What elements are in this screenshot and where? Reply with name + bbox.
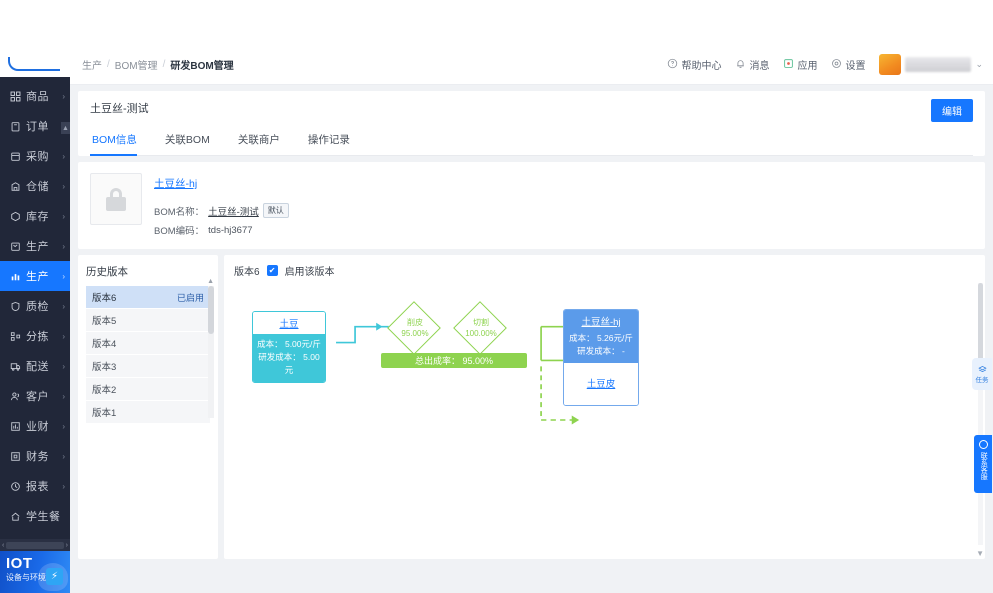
process-node-cutting[interactable]: 切割 100.00% bbox=[450, 309, 512, 347]
task-icon bbox=[978, 365, 987, 377]
sidebar-item-label: 业财 bbox=[26, 418, 49, 434]
sidebar-item-quality[interactable]: 质检 › bbox=[0, 291, 70, 321]
main-content: 土豆丝-测试 编辑 BOM信息 关联BOM 关联商户 操作记录 土豆丝-hj B… bbox=[70, 85, 993, 593]
bom-name-label: BOM名称： bbox=[154, 204, 204, 218]
input-node-body: 成本： 5.00元/斤 研发成本： 5.00元 bbox=[253, 334, 325, 382]
clipboard-icon bbox=[9, 120, 21, 132]
sidebar-item-label: 分拣 bbox=[26, 328, 49, 344]
tab-operation-log[interactable]: 操作记录 bbox=[294, 125, 364, 155]
sidebar-item-label: 生产 bbox=[26, 268, 49, 284]
settings-label: 设置 bbox=[845, 57, 865, 72]
warehouse-icon bbox=[9, 180, 21, 192]
settings-button[interactable]: 设置 bbox=[831, 57, 865, 72]
lower-split: 历史版本 版本6 已启用 版本5 版本4 版本3 bbox=[78, 255, 985, 559]
messages-button[interactable]: 消息 bbox=[735, 57, 769, 72]
sidebar-item-finance[interactable]: 财务 › bbox=[0, 441, 70, 471]
chevron-right-icon: › bbox=[62, 362, 65, 371]
home-icon bbox=[9, 510, 21, 522]
username-masked bbox=[905, 57, 971, 72]
enable-version-label: 启用该版本 bbox=[285, 263, 335, 278]
logo-swoosh-icon bbox=[8, 57, 60, 71]
version-status: 已启用 bbox=[177, 291, 204, 304]
flow-header: 版本6 ✔ 启用该版本 bbox=[234, 263, 975, 278]
messages-label: 消息 bbox=[749, 57, 769, 72]
sidebar-item-label: 采购 bbox=[26, 148, 49, 164]
flow-version-label: 版本6 bbox=[234, 263, 260, 278]
sidebar-item-delivery[interactable]: 配送 › bbox=[0, 351, 70, 381]
process-rate: 100.00% bbox=[450, 328, 512, 339]
sidebar-item-orders[interactable]: 订单 › bbox=[0, 111, 70, 141]
chevron-right-icon: › bbox=[62, 482, 65, 491]
side-tab-task-label: 任务 bbox=[976, 377, 989, 384]
scrollbar-track[interactable] bbox=[6, 542, 63, 549]
sidebar-scroll-up[interactable]: ▲ bbox=[61, 122, 70, 134]
chevron-right-icon: › bbox=[62, 242, 65, 251]
chevron-right-icon: › bbox=[62, 302, 65, 311]
sidebar-item-student-meal[interactable]: 学生餐 › bbox=[0, 501, 70, 531]
help-center-button[interactable]: 帮助中心 bbox=[667, 57, 721, 72]
apps-label: 应用 bbox=[797, 57, 817, 72]
bell-icon bbox=[735, 58, 746, 72]
cart-icon bbox=[9, 150, 21, 162]
bom-code-value: tds-hj3677 bbox=[208, 225, 252, 236]
scrollbar-thumb[interactable] bbox=[208, 286, 214, 334]
sidebar-item-inventory[interactable]: 库存 › bbox=[0, 201, 70, 231]
tab-bar: BOM信息 关联BOM 关联商户 操作记录 bbox=[90, 125, 973, 156]
product-thumbnail bbox=[90, 173, 142, 225]
history-version-panel: 历史版本 版本6 已启用 版本5 版本4 版本3 bbox=[78, 255, 218, 559]
header-actions: 帮助中心 消息 应用 设置 ⌄ bbox=[667, 54, 983, 75]
process-node-text: 切割 100.00% bbox=[450, 317, 512, 339]
iot-device-icon: ⚡ bbox=[46, 568, 63, 585]
list-item[interactable]: 版本2 bbox=[86, 378, 210, 400]
history-list: 版本6 已启用 版本5 版本4 版本3 版本2 bbox=[86, 286, 210, 423]
sidebar-item-goods[interactable]: 商品 › bbox=[0, 81, 70, 111]
list-item[interactable]: 版本3 bbox=[86, 355, 210, 377]
product-info-card: 土豆丝-hj BOM名称： 土豆丝-测试 默认 BOM编码： tds-hj367… bbox=[78, 162, 985, 249]
history-scrollbar[interactable]: ▲ bbox=[208, 286, 214, 418]
sidebar-item-label: 质检 bbox=[26, 298, 49, 314]
sidebar-horizontal-scrollbar[interactable]: ‹ › bbox=[0, 539, 70, 551]
input-node-name[interactable]: 土豆 bbox=[253, 312, 325, 334]
finance-icon bbox=[9, 450, 21, 462]
users-icon bbox=[9, 390, 21, 402]
browser-top-strip bbox=[0, 0, 993, 45]
factory-icon bbox=[9, 240, 21, 252]
process-name: 削皮 bbox=[384, 317, 446, 328]
tab-bom-info[interactable]: BOM信息 bbox=[90, 125, 151, 155]
input-node[interactable]: 土豆 成本： 5.00元/斤 研发成本： 5.00元 bbox=[252, 311, 326, 383]
sidebar-item-label: 配送 bbox=[26, 358, 49, 374]
version-label: 版本6 bbox=[92, 290, 116, 304]
output-node[interactable]: 土豆丝-hj 成本： 5.26元/斤 研发成本： - 土豆皮 bbox=[563, 309, 639, 406]
top-header: 生产 / BOM管理 / 研发BOM管理 帮助中心 消息 应用 设置 ⌄ bbox=[70, 45, 993, 85]
chevron-right-icon: › bbox=[62, 392, 65, 401]
tab-related-merchant[interactable]: 关联商户 bbox=[224, 125, 294, 155]
breadcrumb-item-0[interactable]: 生产 bbox=[82, 57, 102, 72]
version-label: 版本4 bbox=[92, 336, 116, 350]
process-node-text: 削皮 95.00% bbox=[384, 317, 446, 339]
total-yield-bar: 总出成率： 95.00% bbox=[381, 353, 527, 368]
truck-icon bbox=[9, 360, 21, 372]
chart-bar-icon bbox=[9, 270, 21, 282]
sort-icon bbox=[9, 330, 21, 342]
chevron-right-icon: › bbox=[62, 92, 65, 101]
sidebar-item-label: 订单 bbox=[26, 118, 49, 134]
version-label: 版本5 bbox=[92, 313, 116, 327]
enable-version-checkbox[interactable]: ✔ bbox=[267, 265, 278, 276]
apps-icon bbox=[783, 58, 794, 72]
report-icon bbox=[9, 420, 21, 432]
input-node-cost: 成本： 5.00元/斤 bbox=[256, 338, 322, 351]
bom-code-label: BOM编码： bbox=[154, 223, 204, 237]
breadcrumb-item-2: 研发BOM管理 bbox=[170, 57, 233, 72]
canvas-vertical-scrollbar[interactable] bbox=[978, 283, 983, 545]
flow-canvas[interactable]: 土豆 成本： 5.00元/斤 研发成本： 5.00元 削皮 95.00% bbox=[224, 281, 985, 559]
chat-icon bbox=[979, 440, 988, 449]
sidebar-item-label: 库存 bbox=[26, 208, 49, 224]
sidebar-item-label: 商品 bbox=[26, 88, 49, 104]
bom-flow-panel: 版本6 ✔ 启用该版本 土豆 成本： 5 bbox=[224, 255, 985, 559]
edit-button[interactable]: 编辑 bbox=[931, 99, 973, 122]
sidebar-item-reports[interactable]: 报表 › bbox=[0, 471, 70, 501]
breadcrumb-separator: / bbox=[163, 59, 166, 70]
sidebar-item-sorting[interactable]: 分拣 › bbox=[0, 321, 70, 351]
avatar bbox=[879, 54, 901, 75]
help-center-label: 帮助中心 bbox=[681, 57, 721, 72]
sidebar-item-business-finance[interactable]: 业财 › bbox=[0, 411, 70, 441]
gear-icon bbox=[831, 58, 842, 72]
lock-icon bbox=[106, 187, 126, 211]
chevron-right-icon: › bbox=[62, 182, 65, 191]
output-node-body: 成本： 5.26元/斤 研发成本： - bbox=[564, 332, 638, 363]
process-rate: 95.00% bbox=[384, 328, 446, 339]
scroll-up-icon[interactable]: ▲ bbox=[207, 278, 214, 285]
user-menu[interactable]: ⌄ bbox=[879, 54, 983, 75]
process-name: 切割 bbox=[450, 317, 512, 328]
scroll-right-icon[interactable]: › bbox=[66, 542, 68, 549]
side-tab-customer-service[interactable]: 联系客服 bbox=[974, 435, 992, 493]
chevron-right-icon: › bbox=[62, 212, 65, 221]
version-label: 版本1 bbox=[92, 405, 116, 419]
sidebar-item-label: 学生餐 bbox=[26, 508, 61, 524]
version-label: 版本3 bbox=[92, 359, 116, 373]
side-tab-service-label: 联系客服 bbox=[979, 452, 988, 480]
sidebar-item-customers[interactable]: 客户 › bbox=[0, 381, 70, 411]
page-header-card: 土豆丝-测试 编辑 BOM信息 关联BOM 关联商户 操作记录 bbox=[78, 91, 985, 156]
list-item[interactable]: 版本5 bbox=[86, 309, 210, 331]
sidebar-logo[interactable] bbox=[0, 45, 70, 77]
chevron-right-icon: › bbox=[62, 452, 65, 461]
status-badge: 默认 bbox=[263, 203, 289, 218]
sidebar-item-label: 财务 bbox=[26, 448, 49, 464]
chevron-right-icon: › bbox=[62, 272, 65, 281]
shield-icon bbox=[9, 300, 21, 312]
chevron-down-icon[interactable]: ⌄ bbox=[975, 59, 983, 70]
scroll-left-icon[interactable]: ‹ bbox=[2, 542, 4, 549]
version-label: 版本2 bbox=[92, 382, 116, 396]
sidebar-item-label: 仓储 bbox=[26, 178, 49, 194]
chevron-right-icon: › bbox=[62, 332, 65, 341]
box-icon bbox=[9, 210, 21, 222]
apps-button[interactable]: 应用 bbox=[783, 57, 817, 72]
scroll-down-icon[interactable]: ▼ bbox=[976, 549, 984, 558]
iot-banner[interactable]: IOT 设备与环境 ⚡ bbox=[0, 551, 70, 593]
process-node-peeling[interactable]: 削皮 95.00% bbox=[384, 309, 446, 347]
sidebar-item-production[interactable]: 生产 › bbox=[0, 231, 70, 261]
bom-code-row: BOM编码： tds-hj3677 bbox=[154, 223, 289, 237]
sidebar-item-label: 报表 bbox=[26, 478, 49, 494]
tab-related-bom[interactable]: 关联BOM bbox=[151, 125, 224, 155]
help-circle-icon bbox=[667, 58, 678, 72]
sidebar-item-production-active[interactable]: 生产 › bbox=[0, 261, 70, 291]
output-node-cost: 成本： 5.26元/斤 bbox=[567, 332, 635, 345]
grid-icon bbox=[9, 90, 21, 102]
sidebar-item-purchase[interactable]: 采购 › bbox=[0, 141, 70, 171]
sidebar-item-label: 客户 bbox=[26, 388, 49, 404]
output-node-name[interactable]: 土豆丝-hj bbox=[564, 310, 638, 332]
product-details: 土豆丝-hj BOM名称： 土豆丝-测试 默认 BOM编码： tds-hj367… bbox=[154, 173, 289, 237]
breadcrumb: 生产 / BOM管理 / 研发BOM管理 bbox=[82, 57, 234, 72]
output-node-rd-cost: 研发成本： - bbox=[567, 345, 635, 358]
history-title: 历史版本 bbox=[86, 264, 210, 279]
byproduct-node-name[interactable]: 土豆皮 bbox=[564, 363, 638, 405]
chevron-right-icon: › bbox=[62, 422, 65, 431]
product-name-link[interactable]: 土豆丝-hj bbox=[154, 176, 197, 191]
breadcrumb-separator: / bbox=[107, 59, 110, 70]
bom-name-value: 土豆丝-测试 bbox=[208, 204, 259, 218]
list-item[interactable]: 版本4 bbox=[86, 332, 210, 354]
sidebar-item-label: 生产 bbox=[26, 238, 49, 254]
list-item[interactable]: 版本1 bbox=[86, 401, 210, 423]
page-title: 土豆丝-测试 bbox=[90, 100, 973, 116]
input-node-rd-cost: 研发成本： 5.00元 bbox=[256, 351, 322, 377]
sidebar-nav-list: ▲ 商品 › 订单 › 采购 › 仓储 › 库存 › 生产 bbox=[0, 77, 70, 539]
left-sidebar: ▲ 商品 › 订单 › 采购 › 仓储 › 库存 › 生产 bbox=[0, 45, 70, 593]
sidebar-item-warehousing[interactable]: 仓储 › bbox=[0, 171, 70, 201]
bom-name-row: BOM名称： 土豆丝-测试 默认 bbox=[154, 203, 289, 218]
breadcrumb-item-1[interactable]: BOM管理 bbox=[115, 57, 158, 72]
list-item[interactable]: 版本6 已启用 bbox=[86, 286, 210, 308]
side-tab-task[interactable]: 任务 bbox=[972, 358, 992, 390]
clock-icon bbox=[9, 480, 21, 492]
chevron-right-icon: › bbox=[62, 152, 65, 161]
